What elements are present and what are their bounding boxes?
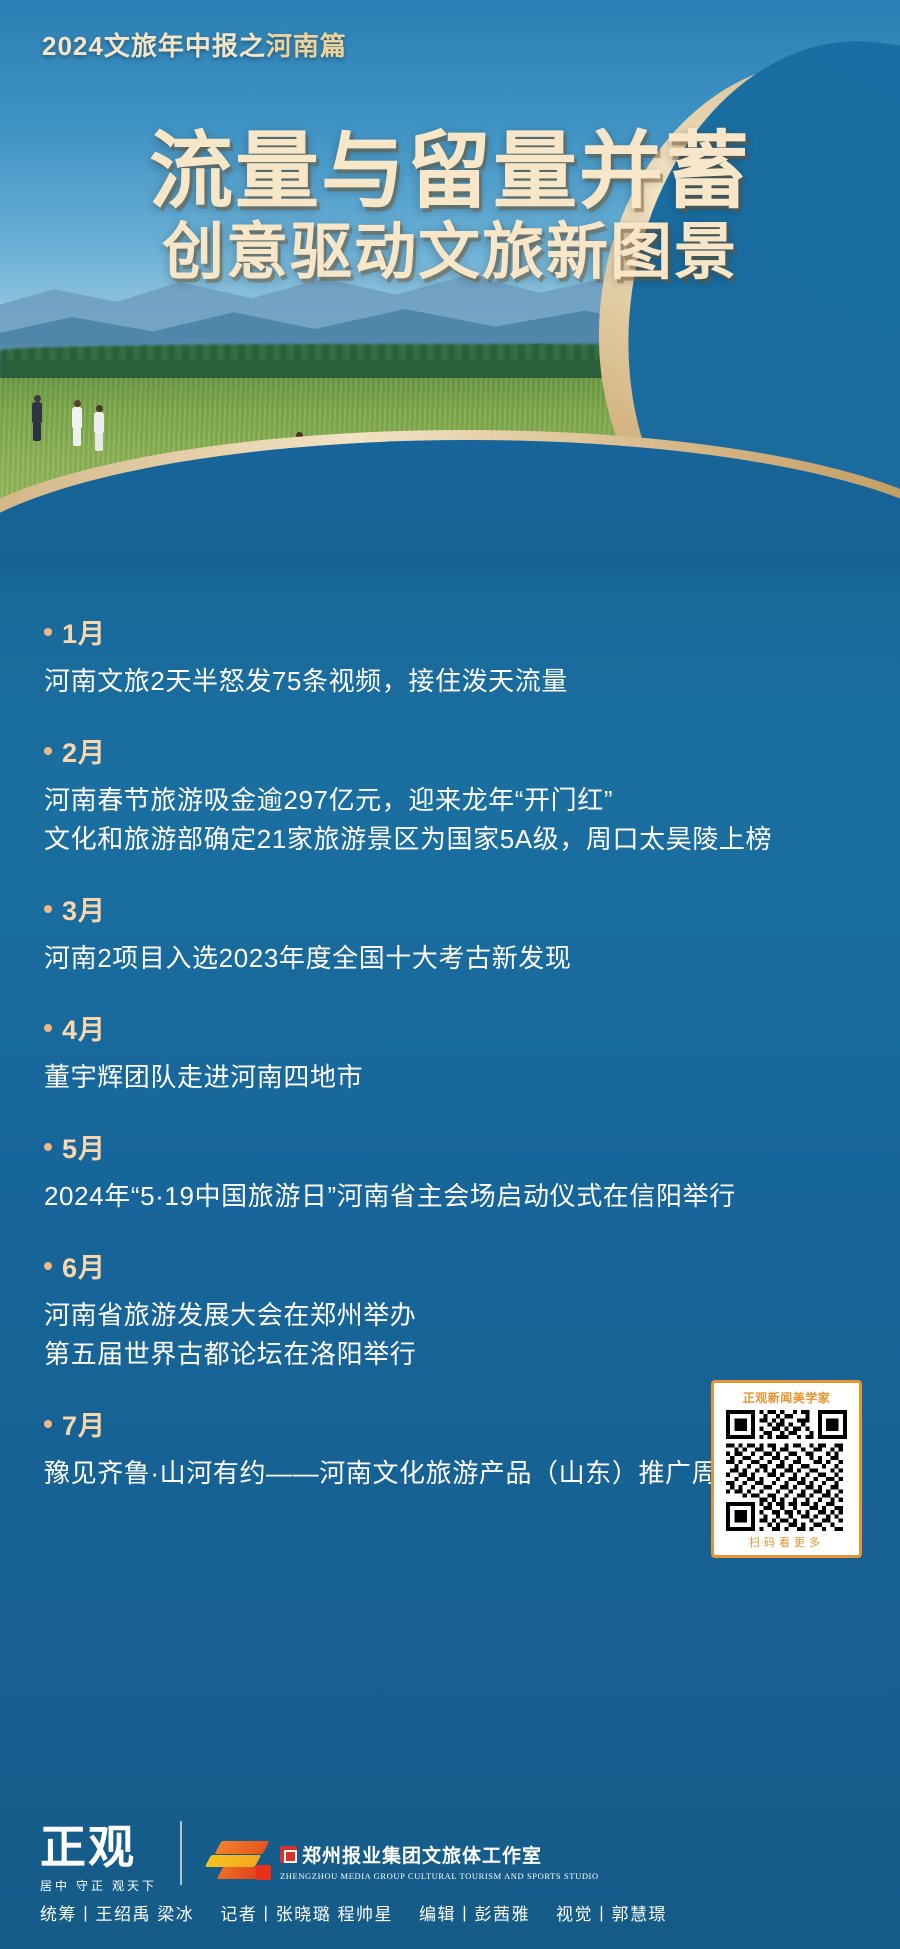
timeline-entry: 1月河南文旅2天半怒发75条视频，接住泼天流量 (44, 612, 860, 701)
month-label: 2月 (62, 731, 106, 770)
kicker-title: 2024文旅年中报之河南篇 (42, 26, 347, 63)
footer-credits: 统筹丨王绍禹 梁冰记者丨张晓璐 程帅星编辑丨彭茜雅视觉丨郭慧璟 (40, 1900, 693, 1925)
month-label: 7月 (62, 1404, 106, 1443)
phoenix-icon (204, 1839, 270, 1883)
studio-name-cn: 郑州报业集团文旅体工作室 (302, 1841, 542, 1868)
timeline-entry-line: 河南省旅游发展大会在郑州举办 (44, 1296, 860, 1335)
person-figure (92, 405, 106, 451)
bullet-dot-icon (44, 905, 52, 913)
studio-name-cn-row: 郑州报业集团文旅体工作室 (280, 1841, 599, 1868)
timeline-entry-header: 2月 (44, 731, 860, 770)
credit-item: 记者丨张晓璐 程帅星 (220, 1905, 393, 1924)
zhengguan-slogan: 居中 守正 观天下 (40, 1877, 158, 1894)
timeline-entry-line: 文化和旅游部确定21家旅游景区为国家5A级，周口太昊陵上榜 (44, 820, 860, 859)
bullet-dot-icon (44, 1024, 52, 1032)
timeline-entry-line: 河南文旅2天半怒发75条视频，接住泼天流量 (44, 662, 860, 701)
month-label: 3月 (62, 889, 106, 928)
qr-code-image[interactable] (726, 1410, 847, 1531)
timeline-entry-header: 3月 (44, 889, 860, 928)
month-label: 1月 (62, 612, 106, 651)
credit-item: 编辑丨彭茜雅 (419, 1905, 530, 1924)
bullet-dot-icon (44, 1420, 52, 1428)
zhengguan-logo: 正观 居中 守正 观天下 (40, 1825, 158, 1887)
kicker-accent: 河南篇 (266, 31, 347, 61)
timeline-entry: 6月河南省旅游发展大会在郑州举办第五届世界古都论坛在洛阳举行 (44, 1246, 860, 1374)
footer-divider (180, 1821, 182, 1885)
studio-logo-block: 郑州报业集团文旅体工作室 ZHENGZHOU MEDIA GROUP CULTU… (204, 1839, 599, 1887)
timeline-entry-header: 6月 (44, 1246, 860, 1285)
timeline-entry: 5月2024年“5·19中国旅游日”河南省主会场启动仪式在信阳举行 (44, 1127, 860, 1216)
studio-name-en: ZHENGZHOU MEDIA GROUP CULTURAL TOURISM A… (280, 1871, 599, 1881)
timeline-entry-line: 2024年“5·19中国旅游日”河南省主会场启动仪式在信阳举行 (44, 1177, 860, 1216)
person-figure (30, 395, 44, 441)
person-figure (70, 400, 84, 446)
zhengguan-wordmark: 正观 (40, 1825, 158, 1871)
footer: 正观 居中 守正 观天下 郑州报业集团文旅体工作室 ZHENGZHOU MEDI… (0, 1799, 900, 1949)
bullet-dot-icon (44, 747, 52, 755)
qr-code-card[interactable]: 正观新闻美学家 (711, 1380, 862, 1558)
timeline-entry-header: 4月 (44, 1008, 860, 1047)
poster-root: 2024文旅年中报之河南篇 流量与留量并蓄 创意驱动文旅新图景 1月河南文旅2天… (0, 0, 900, 1949)
credit-item: 视觉丨郭慧璟 (556, 1905, 667, 1924)
month-label: 5月 (62, 1127, 106, 1166)
month-label: 4月 (62, 1008, 106, 1047)
bullet-dot-icon (44, 1143, 52, 1151)
timeline-entry-header: 1月 (44, 612, 860, 651)
timeline-entry-line: 河南2项目入选2023年度全国十大考古新发现 (44, 939, 860, 978)
headline-line-1: 流量与留量并蓄 (0, 128, 900, 215)
footer-brand-row: 正观 居中 守正 观天下 郑州报业集团文旅体工作室 ZHENGZHOU MEDI… (40, 1821, 599, 1887)
qr-card-footer: 扫码看更多 (720, 1534, 853, 1550)
timeline-entry-line: 河南春节旅游吸金逾297亿元，迎来龙年“开门红” (44, 781, 860, 820)
bullet-dot-icon (44, 628, 52, 636)
bullet-dot-icon (44, 1262, 52, 1270)
timeline-entry-line: 第五届世界古都论坛在洛阳举行 (44, 1335, 860, 1374)
timeline-entry: 4月董宇辉团队走进河南四地市 (44, 1008, 860, 1097)
kicker-prefix: 2024文旅年中报之 (42, 31, 266, 61)
headline-line-2: 创意驱动文旅新图景 (0, 219, 900, 287)
credit-item: 统筹丨王绍禹 梁冰 (40, 1905, 194, 1924)
timeline-entry: 3月河南2项目入选2023年度全国十大考古新发现 (44, 889, 860, 978)
zhengzhou-badge-icon (280, 1846, 297, 1863)
headline-block: 流量与留量并蓄 创意驱动文旅新图景 (0, 128, 900, 288)
month-label: 6月 (62, 1246, 106, 1285)
timeline-entry-line: 董宇辉团队走进河南四地市 (44, 1058, 860, 1097)
qr-card-title: 正观新闻美学家 (720, 1389, 853, 1406)
timeline-entry-header: 5月 (44, 1127, 860, 1166)
timeline-entry: 2月河南春节旅游吸金逾297亿元，迎来龙年“开门红”文化和旅游部确定21家旅游景… (44, 731, 860, 859)
